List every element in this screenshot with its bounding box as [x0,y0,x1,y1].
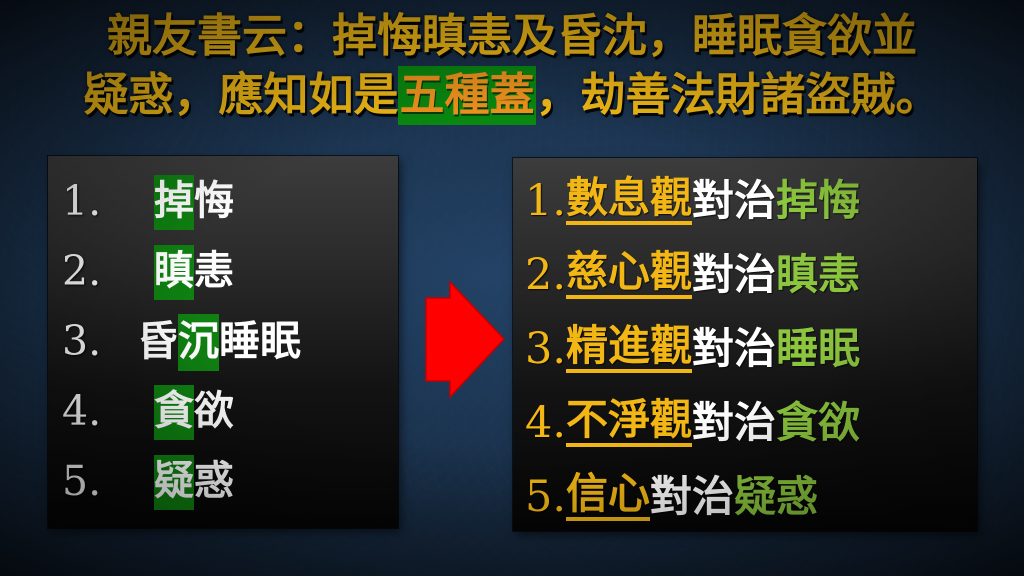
antidote-method: 數息觀 [566,177,692,225]
list-item: 2. 慈心觀 對治 瞋恚 [519,238,977,312]
list-item-term: 掉悔 [154,181,234,221]
antidote-verb: 對治 [650,476,734,518]
list-item: 1. 掉悔 [48,166,398,236]
antidote-method: 慈心觀 [566,251,692,299]
antidote-target: 掉悔 [776,180,860,222]
list-item-number: 5. [525,476,566,519]
list-item-number: 2. [62,251,154,292]
antidote-target: 瞋恚 [776,254,860,296]
list-item: 5. 信心 對治 疑惑 [519,460,977,534]
term-rest: 悔 [194,178,234,224]
list-item-term: 疑惑 [154,461,234,501]
list-item-number: 1. [62,181,154,222]
title-line-2-prefix: 疑惑，應知如是 [83,68,398,121]
list-item-number: 2. [525,254,566,297]
arrow-right-icon-svg [420,272,510,407]
list-item-number: 5. [62,461,154,502]
highlight-char: 掉 [154,175,194,230]
antidote-target: 疑惑 [734,476,818,518]
title-highlight-five-hindrances: 五種蓋 [398,66,535,125]
antidote-method: 不淨觀 [566,399,692,447]
list-item: 4. 貪欲 [48,376,398,446]
list-item-term: 瞋恚 [154,251,234,291]
list-item: 3. 精進觀 對治 睡眠 [519,312,977,386]
antidote-verb: 對治 [692,328,776,370]
page-title: 親友書云：掉悔瞋恚及昏沈，睡眠貪欲並 疑惑，應知如是五種蓋，劫善法財諸盜賊。 [0,6,1024,124]
antidote-target: 貪欲 [776,402,860,444]
list-item: 4. 不淨觀 對治 貪欲 [519,386,977,460]
list-item: 2. 瞋恚 [48,236,398,306]
list-item-number: 4. [62,391,154,432]
highlight-char: 貪 [154,385,194,440]
list-item: 3. 昏沉睡眠 [48,306,398,376]
list-item-term: 昏沉睡眠 [137,321,301,362]
term-rest: 恚 [194,248,234,294]
list-item-number: 4. [525,402,566,445]
arrow-right-icon [420,272,510,407]
term-rest: 睡眠 [219,317,301,365]
term-rest: 欲 [194,388,234,434]
list-item-number: 3. [62,321,137,362]
list-item-number: 1. [525,180,566,223]
antidote-method: 信心 [566,473,650,521]
antidote-verb: 對治 [692,180,776,222]
list-item: 1. 數息觀 對治 掉悔 [519,164,977,238]
antidote-method: 精進觀 [566,325,692,373]
antidote-target: 睡眠 [776,328,860,370]
slide-canvas: 親友書云：掉悔瞋恚及昏沈，睡眠貪欲並 疑惑，應知如是五種蓋，劫善法財諸盜賊。 1… [0,0,1024,576]
list-item: 5. 疑惑 [48,446,398,516]
list-item-number: 3. [525,328,566,371]
highlight-char: 疑 [154,455,194,510]
term-rest: 惑 [194,458,234,504]
highlight-char: 沉 [178,314,219,371]
title-line-2-suffix: ，劫善法財諸盜賊。 [536,68,941,121]
title-line-1-text: 親友書云：掉悔瞋恚及昏沈，睡眠貪欲並 [107,9,917,62]
right-panel-antidotes: 1. 數息觀 對治 掉悔 2. 慈心觀 對治 瞋恚 3. 精進觀 對治 睡眠 4… [513,158,977,531]
antidote-verb: 對治 [692,402,776,444]
term-prefix: 昏 [137,317,178,365]
antidote-verb: 對治 [692,254,776,296]
left-panel-five-hindrances: 1. 掉悔 2. 瞋恚 3. 昏沉睡眠 4. 貪欲 5. 疑惑 [48,156,398,528]
list-item-term: 貪欲 [154,391,234,431]
antidotes-list: 1. 數息觀 對治 掉悔 2. 慈心觀 對治 瞋恚 3. 精進觀 對治 睡眠 4… [513,158,977,531]
five-hindrances-list: 1. 掉悔 2. 瞋恚 3. 昏沉睡眠 4. 貪欲 5. 疑惑 [48,156,398,528]
title-line-1: 親友書云：掉悔瞋恚及昏沈，睡眠貪欲並 [0,6,1024,65]
highlight-char: 瞋 [154,245,194,300]
title-line-2: 疑惑，應知如是五種蓋，劫善法財諸盜賊。 [0,65,1024,124]
